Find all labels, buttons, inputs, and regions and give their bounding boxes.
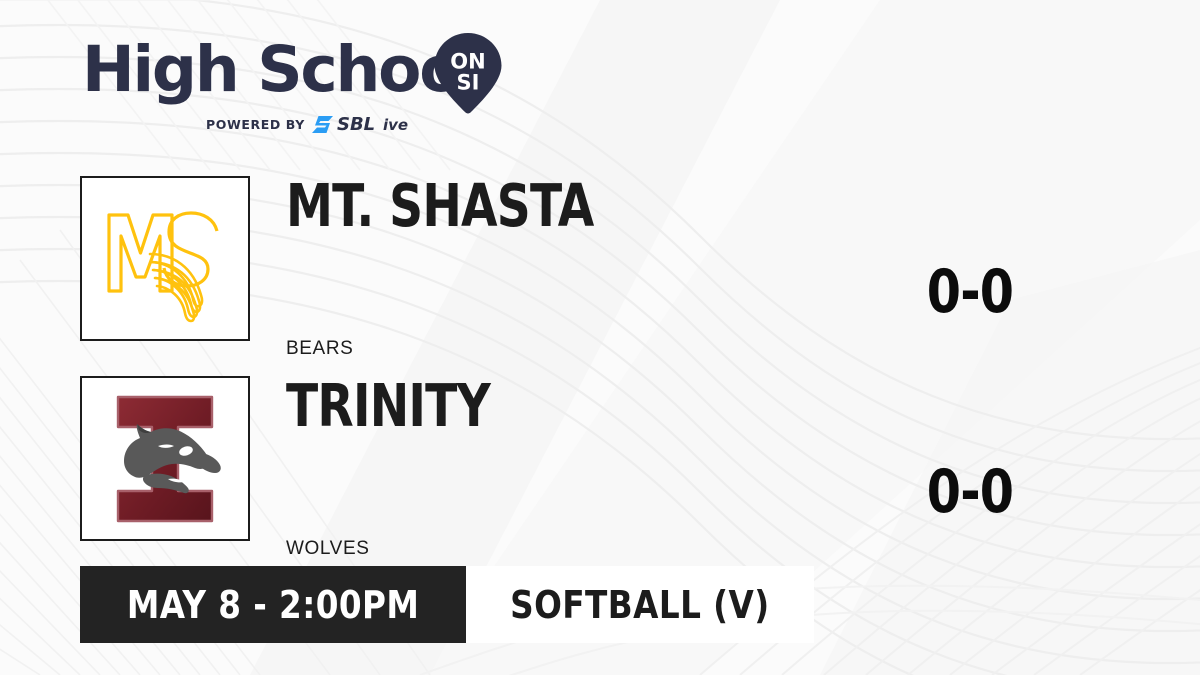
game-datetime-block: MAY 8 - 2:00PM [80, 566, 466, 643]
sblive-wordmark-part2: ive [383, 116, 408, 134]
onsi-pin-logo: ON SI [432, 32, 504, 114]
scoreboard-graphic: High School ON SI POWERED BY SBL ive [0, 0, 1200, 675]
home-team-name: TRINITY [286, 376, 490, 435]
sblive-wordmark: SBL ive [337, 114, 445, 134]
away-team-name: MT. SHASTA [286, 176, 593, 235]
powered-by-label: POWERED BY [206, 117, 305, 132]
sblive-bolt-icon [312, 115, 334, 134]
home-team-record: 0-0 [880, 462, 1060, 522]
away-team-logo-box [80, 176, 250, 341]
brand-wordmark: High School [82, 38, 480, 101]
game-info-banner: MAY 8 - 2:00PM SOFTBALL (V) [80, 566, 814, 643]
game-datetime-text: MAY 8 - 2:00PM [127, 586, 420, 624]
home-team-mascot: WOLVES [286, 538, 370, 560]
mt-shasta-bears-logo-icon [95, 191, 235, 326]
game-sport-text: SOFTBALL (V) [510, 586, 769, 624]
game-sport-block: SOFTBALL (V) [466, 566, 814, 643]
powered-by-row: POWERED BY SBL ive [206, 114, 445, 134]
brand-header: High School ON SI POWERED BY SBL ive [82, 32, 512, 137]
home-team-logo-box [80, 376, 250, 541]
onsi-pin-line2: SI [457, 71, 480, 95]
away-team-record: 0-0 [880, 262, 1060, 322]
sblive-logo: SBL ive [312, 114, 445, 134]
away-team-mascot: BEARS [286, 338, 353, 360]
trinity-wolves-logo-icon [100, 389, 230, 529]
sblive-wordmark-part1: SBL [337, 114, 375, 134]
